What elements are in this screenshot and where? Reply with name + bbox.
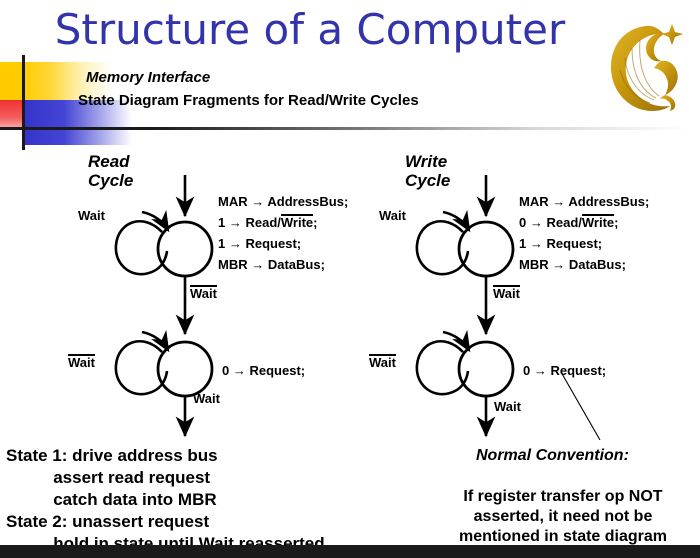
op-target: AddressBus; (568, 194, 649, 209)
read-state1-op-0: MAR → AddressBus; (218, 191, 348, 212)
op-source: MBR (519, 257, 549, 272)
read-state2-self-loop-label: Wait (68, 354, 95, 370)
op-target: DataBus; (569, 257, 626, 272)
read-state1-op-1: 1 → Read/Write; (218, 212, 348, 233)
write-cycle-heading-line1: Write (405, 152, 450, 171)
op-source: MAR (218, 194, 248, 209)
read-state1-op-2: 1 → Request; (218, 233, 348, 254)
write-state1-node (459, 222, 513, 276)
op-source: 0 (523, 363, 530, 378)
write-state1-self-loop-label: Wait (379, 208, 406, 223)
normal-convention-leader-line (561, 372, 600, 440)
write-state1-op-0: MAR → AddressBus; (519, 191, 649, 212)
read-cycle-heading-line2: Cycle (88, 171, 133, 190)
op-target: Request; (249, 363, 305, 378)
op-source: 0 (519, 215, 526, 230)
write-state2-operations: 0 → Request; (523, 360, 606, 381)
arrow-glyph: → (552, 257, 565, 272)
op-target: Read/Write; (546, 215, 618, 230)
op-source: MBR (218, 257, 248, 272)
read-state1-exit-label: Wait (190, 285, 217, 301)
read-state2-node (158, 342, 212, 396)
op-target: Request; (546, 236, 602, 251)
write-state1-operations: MAR → AddressBus; 0 → Read/Write; 1 → Re… (519, 191, 649, 275)
overline-write: Write (281, 214, 313, 230)
read-state2-op-0: 0 → Request; (222, 360, 305, 381)
normal-convention-note: If register transfer op NOT asserted, it… (429, 487, 697, 547)
normal-convention-line-3: mentioned in state diagram (429, 527, 697, 547)
read-state1-op-3: MBR → DataBus; (218, 254, 348, 275)
state-description-note: State 1: drive address bus assert read r… (6, 445, 325, 555)
write-cycle-heading: Write Cycle (405, 152, 450, 190)
write-state2-op-0: 0 → Request; (523, 360, 606, 381)
arrow-glyph: → (229, 236, 242, 251)
write-state1-op-3: MBR → DataBus; (519, 254, 649, 275)
arrow-glyph: → (233, 363, 246, 378)
slide-canvas: Structure of a Computer Memory Interface… (0, 0, 700, 558)
op-source: 1 (218, 236, 225, 251)
read-state2-operations: 0 → Request; (222, 360, 305, 381)
arrow-glyph: → (251, 194, 264, 209)
op-source: 0 (222, 363, 229, 378)
op-target: DataBus; (268, 257, 325, 272)
page-title: Structure of a Computer (0, 5, 620, 54)
read-state1-operations: MAR → AddressBus; 1 → Read/Write; 1 → Re… (218, 191, 348, 275)
header-horizontal-rule (0, 127, 690, 130)
subtitle-secondary: State Diagram Fragments for Read/Write C… (78, 92, 419, 109)
read-cycle-heading-line1: Read (88, 152, 133, 171)
read-cycle-heading: Read Cycle (88, 152, 133, 190)
op-source: 1 (519, 236, 526, 251)
read-state1-self-loop-label: Wait (78, 208, 105, 223)
header-vertical-rule (22, 55, 25, 150)
read-state1-node (158, 222, 212, 276)
arrow-glyph: → (534, 363, 547, 378)
arrow-glyph: → (251, 257, 264, 272)
arrow-glyph: → (229, 215, 242, 230)
ucf-pegasus-logo (602, 12, 694, 124)
op-target: AddressBus; (267, 194, 348, 209)
write-state2-node (459, 342, 513, 396)
footer-bar (0, 545, 700, 558)
write-state1-exit-label: Wait (493, 285, 520, 301)
op-source: MAR (519, 194, 549, 209)
arrow-glyph: → (530, 236, 543, 251)
write-state2-exit-label: Wait (494, 399, 521, 414)
op-source: 1 (218, 215, 225, 230)
normal-convention-line-1: If register transfer op NOT (429, 487, 697, 507)
read-state2-exit-label: Wait (193, 391, 220, 406)
write-cycle-heading-line2: Cycle (405, 171, 450, 190)
arrow-glyph: → (552, 194, 565, 209)
normal-convention-heading: Normal Convention: (476, 447, 629, 465)
subtitle-primary: Memory Interface (86, 69, 210, 86)
write-state1-op-2: 1 → Request; (519, 233, 649, 254)
arrow-glyph: → (530, 215, 543, 230)
op-target: Request; (245, 236, 301, 251)
overline-write: Write (582, 214, 614, 230)
write-state1-op-1: 0 → Read/Write; (519, 212, 649, 233)
write-state2-self-loop-label: Wait (369, 354, 396, 370)
op-target: Read/Write; (245, 215, 317, 230)
normal-convention-line-2: asserted, it need not be (429, 507, 697, 527)
op-target: Request; (550, 363, 606, 378)
